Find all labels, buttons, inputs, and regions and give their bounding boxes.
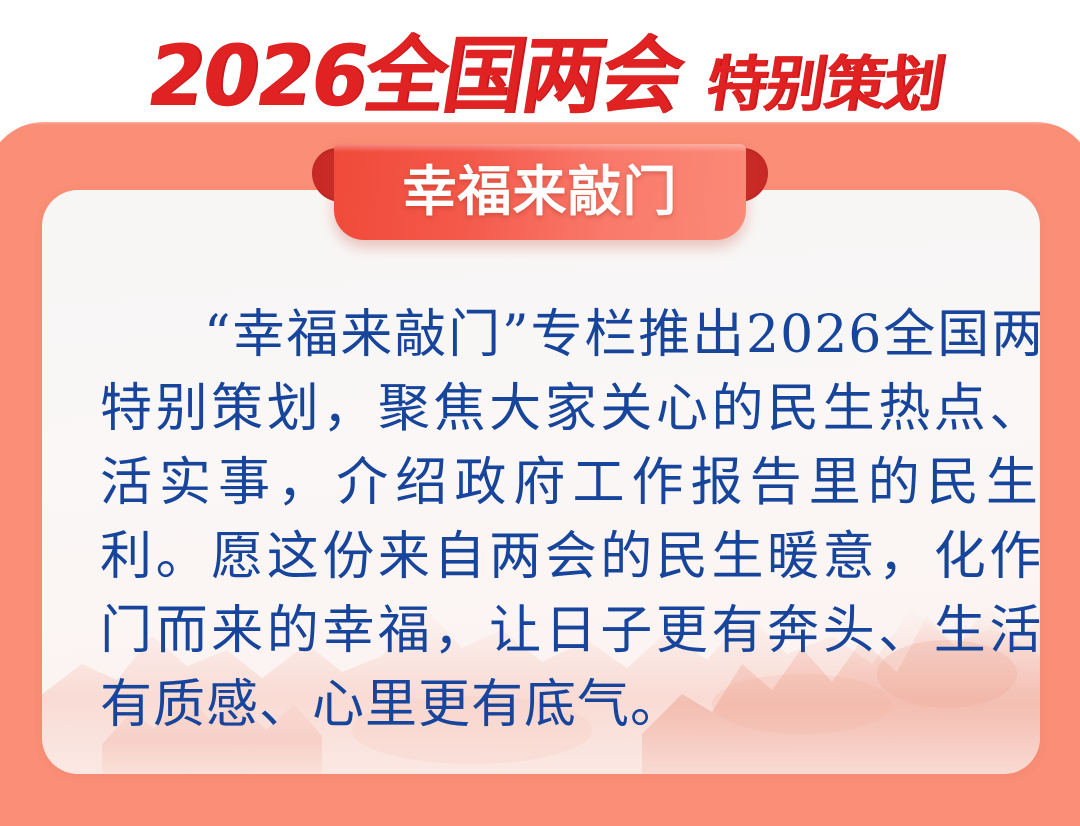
card-body-text: “幸福来敲门”专栏推出2026全国两会特别策划，聚焦大家关心的民生热点、生活实事…: [100, 298, 1040, 742]
poster-root: 2026全国两会 特别策划 幸福来敲门: [0, 0, 1080, 826]
headline-sub-title: 特别策划: [702, 55, 948, 115]
ribbon-body: 幸福来敲门: [334, 144, 746, 240]
ribbon-banner: 幸福来敲门: [316, 140, 764, 244]
ribbon-label: 幸福来敲门: [403, 165, 678, 219]
headline-main-title: 2026全国两会: [142, 34, 687, 118]
headline-wordmark: 2026全国两会 特别策划: [142, 34, 938, 118]
poster-header: 2026全国两会 特别策划: [0, 0, 1080, 122]
content-card: “幸福来敲门”专栏推出2026全国两会特别策划，聚焦大家关心的民生热点、生活实事…: [42, 190, 1040, 774]
